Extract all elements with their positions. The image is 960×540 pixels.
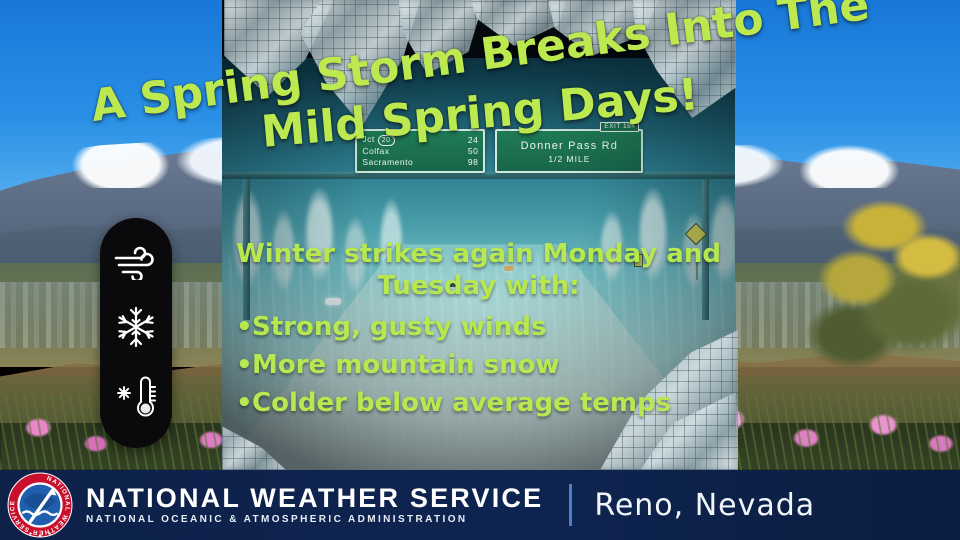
bullet-text: More mountain snow: [252, 350, 560, 380]
weather-hazard-icon-panel: [100, 218, 172, 448]
agency-subtitle: NATIONAL OCEANIC & ATMOSPHERIC ADMINISTR…: [86, 513, 543, 527]
snowflake-icon: [114, 305, 158, 349]
banner-divider: [569, 484, 572, 526]
noaa-nws-logo: NATIONAL WEATHER SERVICE: [6, 471, 74, 539]
impact-bullet-list: •Strong, gusty winds •More mountain snow…: [222, 308, 735, 422]
list-item: •Colder below average temps: [236, 384, 735, 422]
bullet-text: Colder below average temps: [252, 388, 671, 418]
cold-thermometer-icon: [111, 374, 161, 420]
bullet-marker: •: [236, 308, 252, 346]
nws-banner: NATIONAL WEATHER SERVICE NATIONAL WEATHE…: [0, 470, 960, 540]
forecast-lead-text: Winter strikes again Monday and Tuesday …: [222, 238, 735, 302]
agency-title: NATIONAL WEATHER SERVICE: [86, 483, 543, 513]
list-item: •More mountain snow: [236, 346, 735, 384]
bullet-marker: •: [236, 346, 252, 384]
office-name: Reno, Nevada: [594, 488, 815, 523]
agency-brand: NATIONAL WEATHER SERVICE NATIONAL OCEANI…: [86, 483, 543, 527]
weather-graphic: Jct20 24 Colfax 50 Sacramento 98 EXIT 18…: [0, 0, 960, 540]
forecast-text-block: Winter strikes again Monday and Tuesday …: [222, 238, 735, 422]
wind-icon: [113, 246, 159, 280]
list-item: •Strong, gusty winds: [236, 308, 735, 346]
bullet-marker: •: [236, 384, 252, 422]
bullet-text: Strong, gusty winds: [252, 312, 546, 342]
